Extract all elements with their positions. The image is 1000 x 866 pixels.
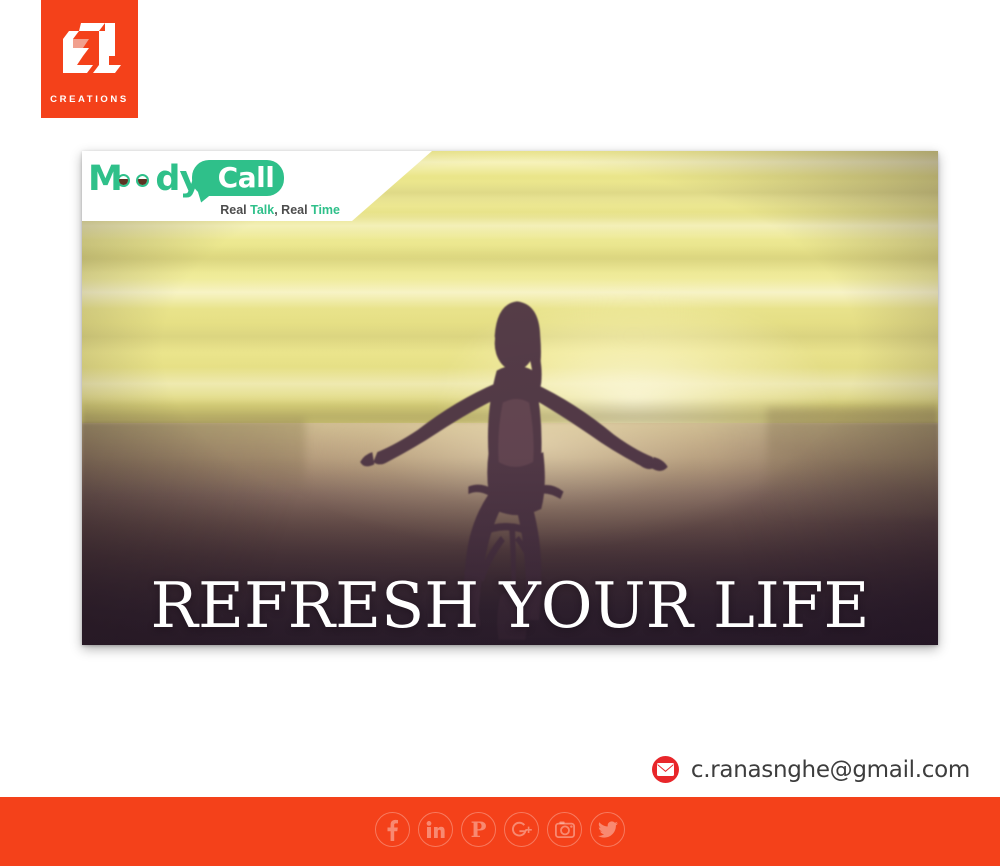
- social-links-row: P: [0, 812, 1000, 847]
- logo-wordmark: M dy Call: [88, 159, 344, 199]
- contact-email[interactable]: c.ranasnghe@gmail.com: [691, 757, 970, 783]
- tagline-part-2: Talk: [250, 203, 274, 217]
- twitter-icon: [598, 821, 618, 838]
- footer-bar: P: [0, 797, 1000, 866]
- linkedin-icon: [426, 821, 445, 839]
- brand-logo-sl-creations: CREATIONS: [41, 0, 138, 118]
- tagline-part-4: Time: [311, 203, 340, 217]
- social-link-instagram[interactable]: [547, 812, 582, 847]
- instagram-icon: [555, 821, 575, 838]
- gmail-envelope-icon: [652, 756, 679, 783]
- pinterest-icon: P: [471, 819, 487, 840]
- banner-inner: M dy Call Real Talk, Real Time REFRESH Y…: [82, 151, 938, 645]
- tagline-part-3: , Real: [274, 203, 311, 217]
- social-link-google-plus[interactable]: [504, 812, 539, 847]
- google-plus-icon: [510, 821, 533, 839]
- sleepy-eye-icon-1: [117, 174, 130, 187]
- social-link-twitter[interactable]: [590, 812, 625, 847]
- promo-banner: M dy Call Real Talk, Real Time REFRESH Y…: [82, 151, 938, 645]
- tagline-part-1: Real: [220, 203, 250, 217]
- social-link-linkedin[interactable]: [418, 812, 453, 847]
- social-link-pinterest[interactable]: P: [461, 812, 496, 847]
- sleepy-eye-icon-2: [136, 174, 149, 187]
- logo-text-call: Call: [200, 160, 292, 196]
- moodycall-logo[interactable]: M dy Call Real Talk, Real Time: [88, 159, 344, 199]
- poster-canvas: CREATIONS: [0, 0, 1000, 866]
- banner-headline: REFRESH YOUR LIFE: [82, 574, 938, 637]
- sl-monogram-icon: [59, 22, 121, 74]
- contact-row[interactable]: c.ranasnghe@gmail.com: [652, 756, 970, 783]
- brand-subtitle: CREATIONS: [41, 94, 138, 105]
- social-link-facebook[interactable]: [375, 812, 410, 847]
- facebook-icon: [387, 819, 398, 841]
- logo-tagline: Real Talk, Real Time: [88, 203, 340, 217]
